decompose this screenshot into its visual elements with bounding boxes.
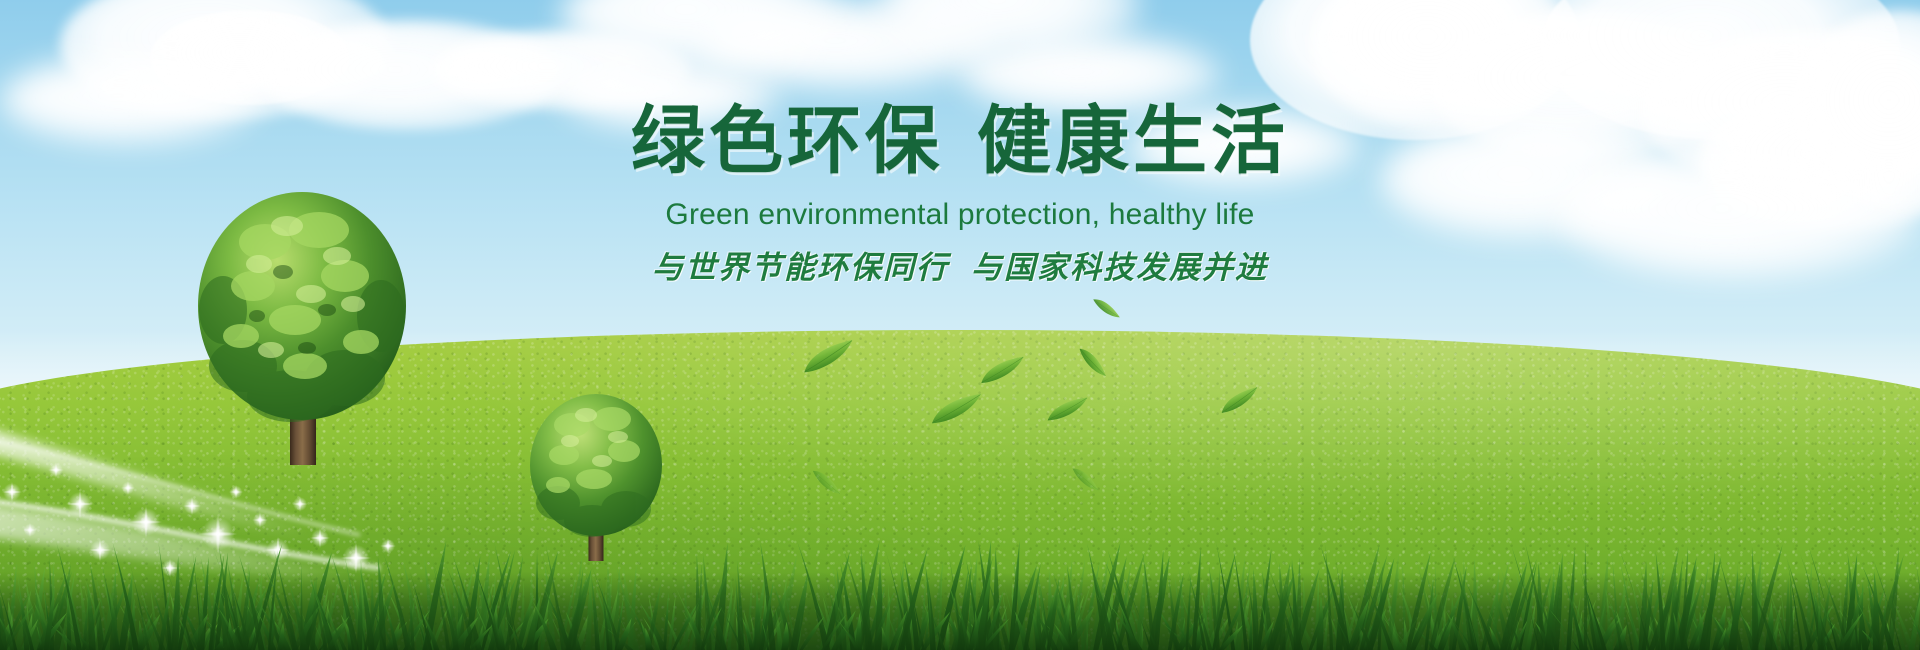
floating-leaf (1216, 384, 1265, 419)
headline-part2: 健康生活 (977, 98, 1289, 184)
calligraphy-part1: 与世界节能环保同行 (652, 250, 949, 286)
calligraphy-part2: 与国家科技发展并进 (971, 250, 1268, 286)
floating-leaf (976, 354, 1030, 387)
headline-part1: 绿色环保 (631, 98, 943, 184)
floating-leaf (1043, 395, 1092, 424)
subtitle: Green environmental protection, healthy … (0, 198, 1920, 232)
eco-banner: 绿色环保健康生活 Green environmental protection,… (0, 0, 1920, 650)
floating-leaf (1060, 335, 1123, 392)
floating-leaf (797, 456, 855, 511)
floating-leaf (1057, 454, 1112, 506)
calligraphy-slogan: 与世界节能环保同行与国家科技发展并进 (0, 242, 1920, 287)
floating-leaf (798, 337, 861, 377)
banner-copy: 绿色环保健康生活 Green environmental protection,… (0, 104, 1920, 287)
floating-leaf (926, 392, 988, 428)
headline: 绿色环保健康生活 (0, 104, 1920, 178)
floating-leaves-layer (0, 0, 1920, 650)
floating-leaf (1080, 283, 1133, 334)
